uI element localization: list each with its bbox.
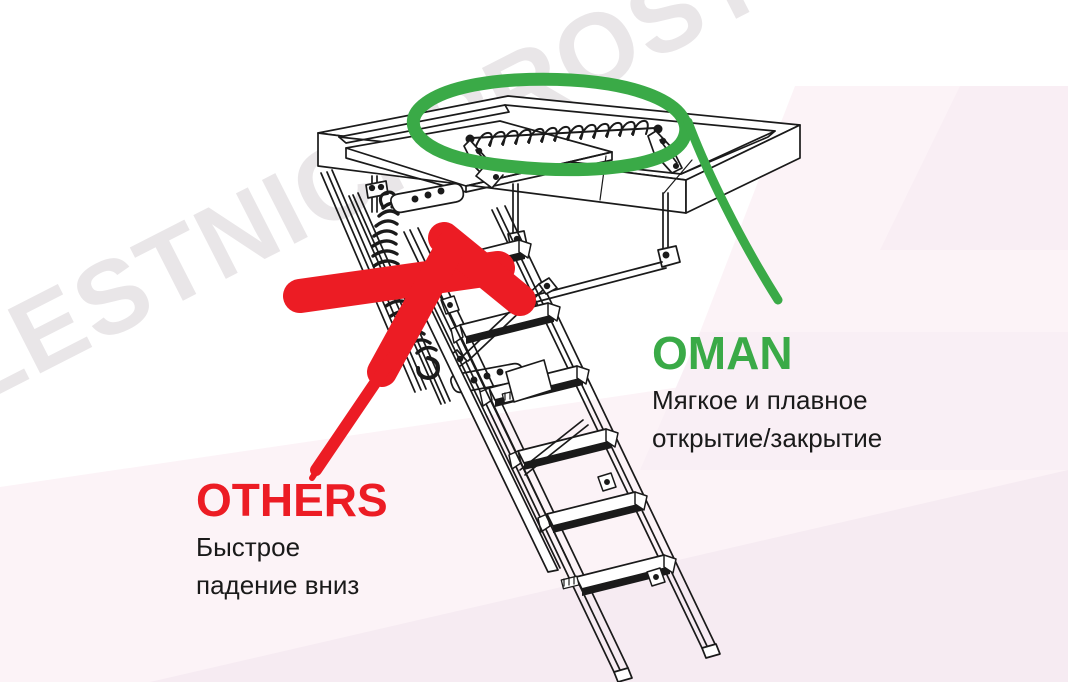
ladder-illustration xyxy=(0,0,1068,682)
callout-others-body: Быстрое падение вниз xyxy=(196,529,388,604)
callout-others: OTHERS Быстрое падение вниз xyxy=(196,477,388,604)
callout-others-line-1: Быстрое xyxy=(196,529,388,567)
comparison-infographic: LESTNICI-PROSTO.RU xyxy=(0,0,1068,682)
callout-others-line-2: падение вниз xyxy=(196,567,388,605)
callout-oman-body: Мягкое и плавное открытие/закрытие xyxy=(652,382,882,457)
ladder-step xyxy=(547,492,641,533)
callout-oman-line-1: Мягкое и плавное xyxy=(652,382,882,420)
callout-oman-title: OMAN xyxy=(652,330,882,376)
ladder-foot xyxy=(614,644,720,682)
callout-oman-line-2: открытие/закрытие xyxy=(652,420,882,458)
callout-others-title: OTHERS xyxy=(196,477,388,523)
spring-mount-plate-top xyxy=(391,184,464,213)
callout-oman: OMAN Мягкое и плавное открытие/закрытие xyxy=(652,330,882,457)
